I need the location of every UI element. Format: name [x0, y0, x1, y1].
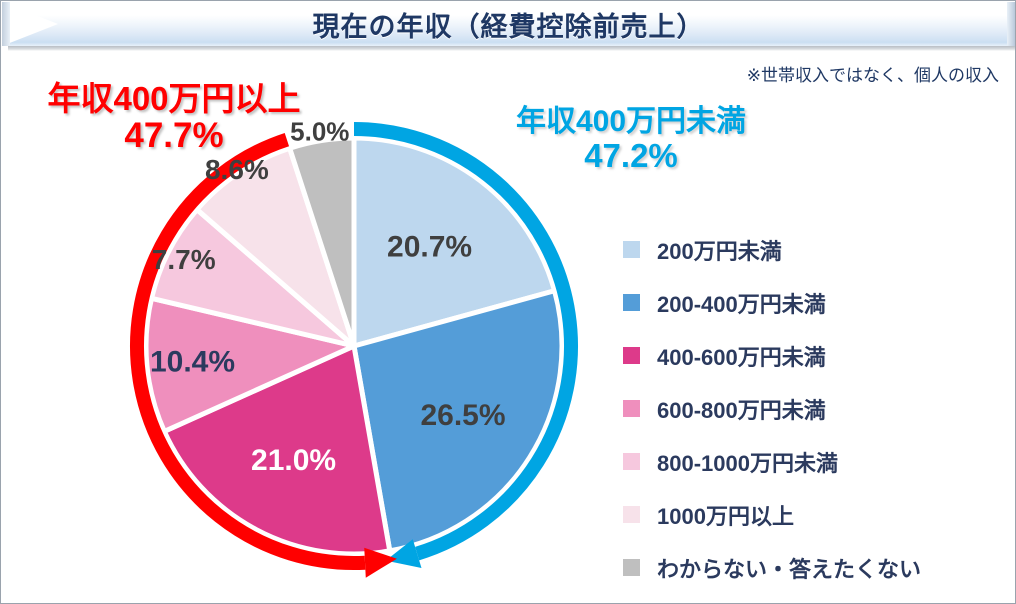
legend-item-label: 600-800万円未満	[657, 393, 826, 425]
pie-chart-svg: 20.7%26.5%21.0%10.4%7.7%8.6%5.0%	[121, 101, 621, 591]
legend-item-label: 200万円未満	[657, 234, 782, 266]
legend-item[interactable]: 1000万円以上	[623, 488, 1003, 541]
legend-swatch-icon	[623, 453, 640, 470]
legend-item-label: 200-400万円未満	[657, 287, 826, 319]
legend-item-label: 1000万円以上	[657, 499, 794, 531]
legend-item[interactable]: 400-600万円未満	[623, 329, 1003, 382]
legend-swatch-icon	[623, 559, 640, 576]
title-banner-shadow	[8, 46, 1015, 51]
pie-chart: 20.7%26.5%21.0%10.4%7.7%8.6%5.0%	[121, 101, 621, 591]
pie-slice-label: 26.5%	[420, 399, 505, 432]
note-text: ※世帯収入ではなく、個人の収入	[747, 61, 999, 86]
legend: 200万円未満 200-400万円未満 400-600万円未満 600-800万…	[623, 223, 1003, 594]
legend-item-label: わからない・答えたくない	[657, 552, 921, 584]
pie-slice-label: 20.7%	[387, 231, 472, 264]
legend-item[interactable]: 200-400万円未満	[623, 276, 1003, 329]
legend-item-label: 400-600万円未満	[657, 340, 826, 372]
pie-slice-label: 10.4%	[150, 346, 235, 379]
legend-swatch-icon	[623, 400, 640, 417]
legend-swatch-icon	[623, 347, 640, 364]
legend-swatch-icon	[623, 294, 640, 311]
pie-slice-label: 7.7%	[152, 244, 216, 275]
page-title: 現在の年収（経費控除前売上）	[2, 2, 1015, 46]
legend-swatch-icon	[623, 241, 640, 258]
pie-slice-label: 21.0%	[251, 444, 336, 477]
legend-item[interactable]: 600-800万円未満	[623, 382, 1003, 435]
legend-swatch-icon	[623, 506, 640, 523]
legend-item[interactable]: 800-1000万円未満	[623, 435, 1003, 488]
pie-slice-label: 5.0%	[290, 116, 349, 146]
pie-slice-label: 8.6%	[205, 154, 269, 185]
title-banner: 現在の年収（経費控除前売上）	[2, 2, 1015, 50]
legend-item[interactable]: わからない・答えたくない	[623, 541, 1003, 594]
legend-item[interactable]: 200万円未満	[623, 223, 1003, 276]
chart-page: 現在の年収（経費控除前売上） ※世帯収入ではなく、個人の収入 年収400万円以上…	[0, 0, 1016, 604]
legend-item-label: 800-1000万円未満	[657, 446, 838, 478]
